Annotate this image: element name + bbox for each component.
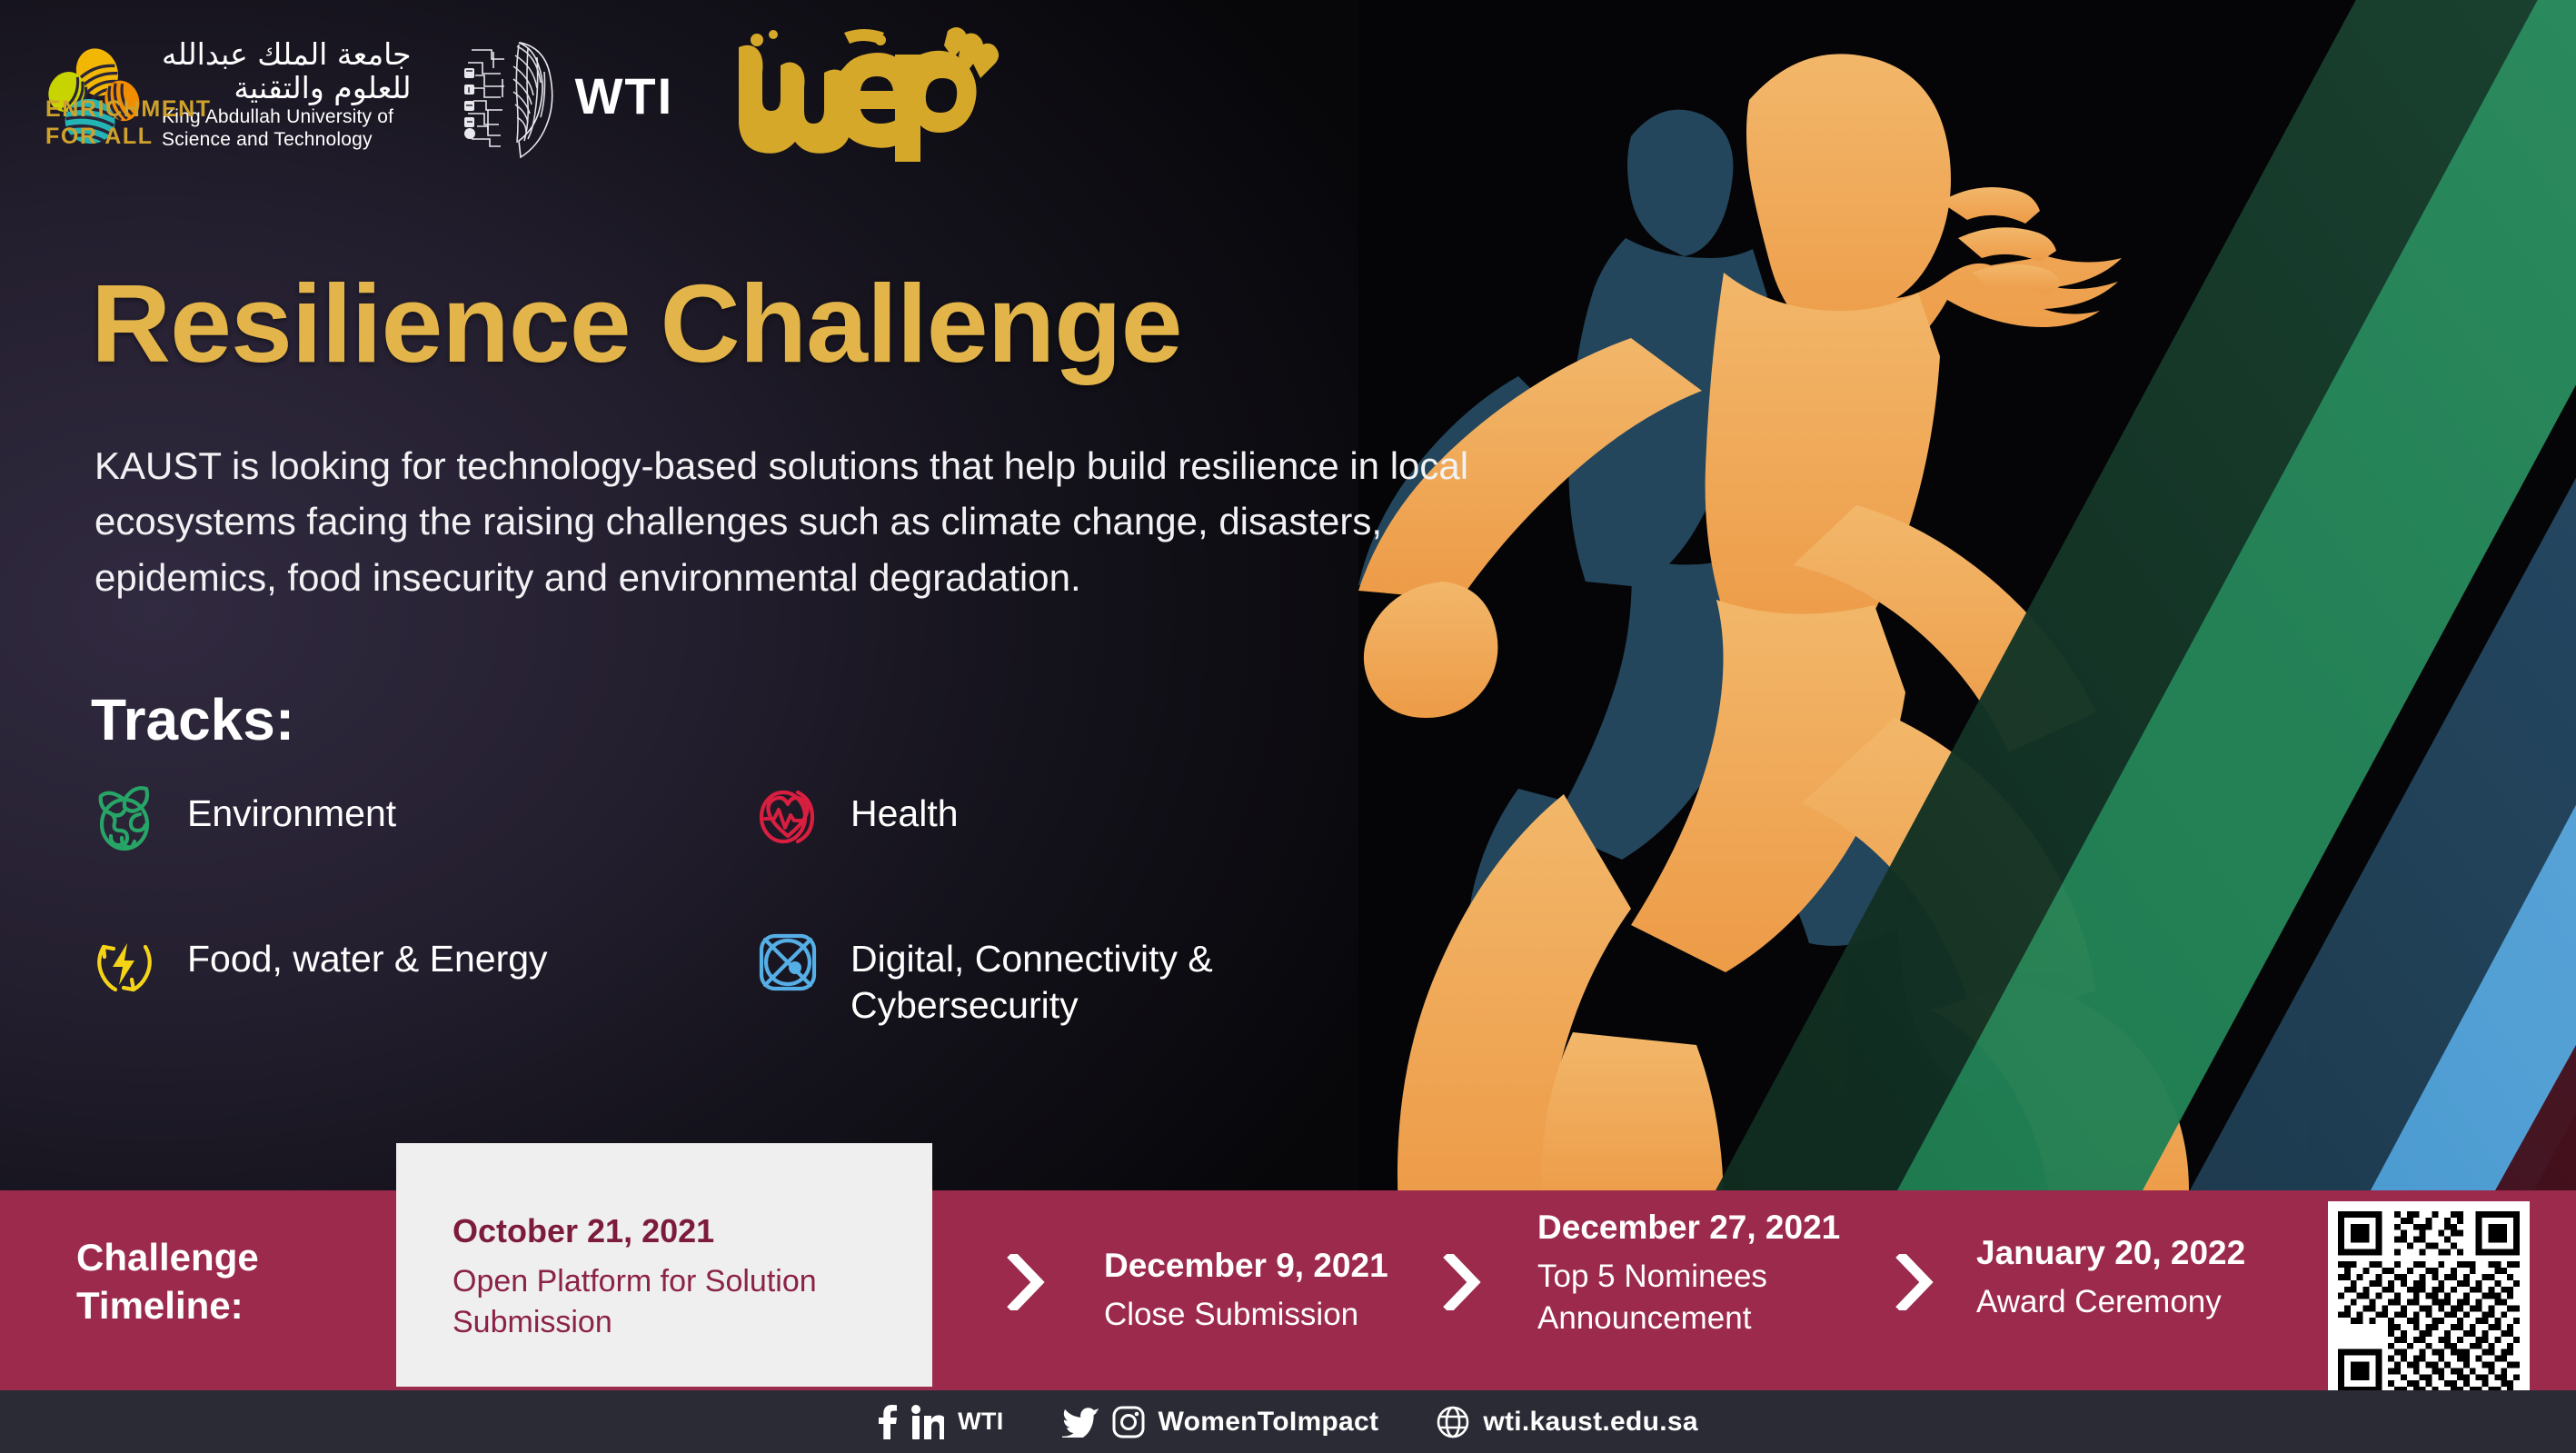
timeline-date: December 9, 2021	[1104, 1247, 1388, 1285]
chevron-right-icon	[1007, 1254, 1045, 1310]
circuit-face-icon	[462, 32, 562, 159]
globe-sprout-icon	[89, 781, 160, 852]
wep-logo: ENRICHMENT FOR ALL	[724, 27, 1001, 164]
track-health[interactable]: Health	[752, 781, 1379, 852]
track-label: Digital, Connectivity & Cybersecurity	[850, 927, 1379, 1029]
track-label: Environment	[187, 781, 396, 837]
social-handle: WTI	[958, 1408, 1003, 1436]
wti-wordmark: WTI	[575, 66, 674, 125]
social-group-womentoimpact: WomenToImpact	[1062, 1406, 1379, 1438]
timeline-event-line1: Open Platform for Solution	[453, 1261, 887, 1302]
wti-logo: WTI	[462, 32, 674, 159]
linkedin-icon[interactable]	[911, 1405, 944, 1439]
timeline-item[interactable]: January 20, 2022 Award Ceremony	[1976, 1234, 2245, 1323]
track-label: Food, water & Energy	[187, 927, 548, 982]
globe-icon[interactable]	[1437, 1406, 1469, 1438]
track-environment[interactable]: Environment	[89, 781, 752, 852]
timeline-date: January 20, 2022	[1976, 1234, 2245, 1272]
qr-code[interactable]	[2328, 1201, 2530, 1403]
timeline-heading-line1: Challenge	[76, 1234, 259, 1282]
poster-root: جامعة الملك عبدالله للعلوم والتقنية King…	[0, 0, 2576, 1453]
instagram-icon[interactable]	[1112, 1406, 1145, 1438]
social-handle: WomenToImpact	[1159, 1407, 1379, 1438]
qr-code-image	[2338, 1211, 2520, 1393]
footer-social-bar: WTI WomenToImpact wti.kaust.edu.sa	[0, 1390, 2576, 1453]
timeline-item[interactable]: December 27, 2021 Top 5 Nominees Announc…	[1537, 1209, 1840, 1339]
timeline-item[interactable]: December 9, 2021 Close Submission	[1104, 1247, 1388, 1336]
timeline-item-highlighted[interactable]: October 21, 2021 Open Platform for Solut…	[396, 1143, 932, 1387]
timeline-event-line2: Submission	[453, 1302, 887, 1343]
timeline-event-line1: Close Submission	[1104, 1294, 1388, 1336]
description-text: KAUST is looking for technology-based so…	[94, 438, 1512, 605]
chevron-right-icon	[1443, 1254, 1481, 1310]
timeline-event-line2: Announcement	[1537, 1298, 1840, 1339]
social-group-wti: WTI	[878, 1405, 1003, 1439]
timeline-date: October 21, 2021	[453, 1212, 887, 1250]
chevron-right-icon	[1895, 1254, 1934, 1310]
wep-wordmark-icon	[724, 27, 1001, 164]
website-url: wti.kaust.edu.sa	[1483, 1407, 1698, 1438]
wep-tagline-line1: ENRICHMENT	[45, 96, 212, 124]
kaust-arabic-line1: جامعة الملك عبدالله	[162, 39, 412, 69]
track-food-water-energy[interactable]: Food, water & Energy	[89, 927, 752, 998]
social-group-website: wti.kaust.edu.sa	[1437, 1406, 1698, 1438]
runner-artwork	[1358, 0, 2576, 1209]
page-title: Resilience Challenge	[91, 268, 1181, 379]
twitter-icon[interactable]	[1062, 1407, 1099, 1438]
timeline-heading-line2: Timeline:	[76, 1282, 259, 1330]
network-node-icon	[752, 927, 823, 998]
wep-tagline-line2: FOR ALL	[45, 124, 212, 151]
header-logos: جامعة الملك عبدالله للعلوم والتقنية King…	[44, 27, 1001, 164]
tracks-list: Environment Health	[89, 781, 1379, 1072]
timeline-event-line1: Award Ceremony	[1976, 1281, 2245, 1323]
heart-pulse-icon	[752, 781, 823, 852]
track-digital-connectivity[interactable]: Digital, Connectivity & Cybersecurity	[752, 927, 1379, 1029]
timeline-date: December 27, 2021	[1537, 1209, 1840, 1247]
facebook-icon[interactable]	[878, 1405, 898, 1439]
timeline-event-line1: Top 5 Nominees	[1537, 1256, 1840, 1298]
tracks-heading: Tracks:	[91, 686, 294, 753]
energy-cycle-icon	[89, 927, 160, 998]
track-label: Health	[850, 781, 959, 837]
timeline-heading: Challenge Timeline:	[76, 1234, 259, 1329]
